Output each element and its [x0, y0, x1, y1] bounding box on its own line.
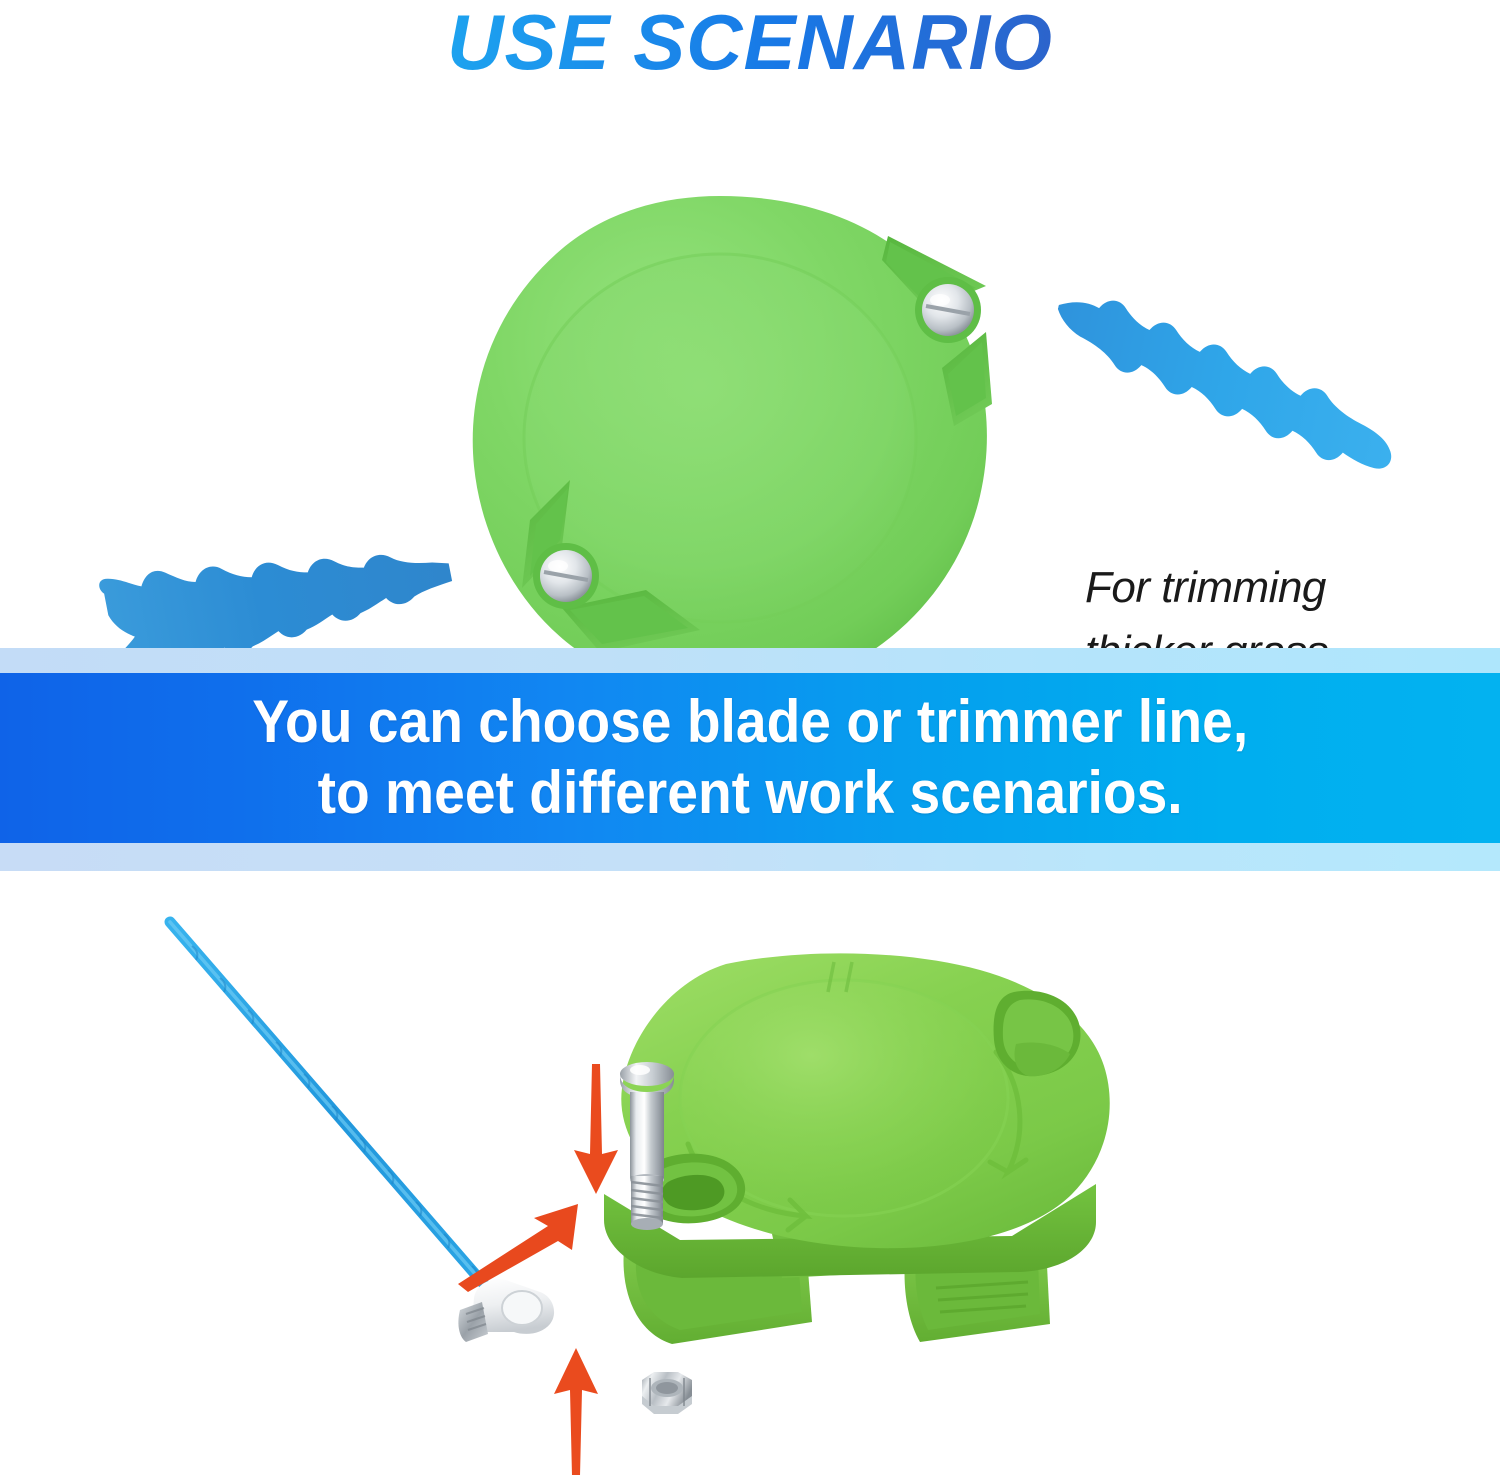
banner-strip-top	[0, 648, 1500, 673]
mounting-bolt-icon	[616, 1056, 678, 1236]
top-product-scene: For trimming thicker grass	[0, 86, 1500, 646]
feature-banner: You can choose blade or trimmer line, to…	[0, 648, 1500, 890]
infographic-canvas: USE SCENARIO	[0, 0, 1500, 1475]
banner-body: You can choose blade or trimmer line, to…	[0, 673, 1500, 843]
serrated-blade-right-icon	[1033, 270, 1427, 499]
screw-top-right	[915, 277, 981, 343]
page-title: USE SCENARIO	[0, 0, 1500, 90]
banner-line-1: You can choose blade or trimmer line,	[252, 687, 1248, 758]
banner-line-2: to meet different work scenarios.	[317, 758, 1182, 829]
caption-line-1: For trimming	[1085, 556, 1485, 620]
screw-bottom-left	[533, 543, 599, 609]
trimmer-head-green	[420, 190, 1040, 702]
banner-strip-bottom	[0, 843, 1500, 871]
hex-nut-icon	[628, 1366, 702, 1428]
